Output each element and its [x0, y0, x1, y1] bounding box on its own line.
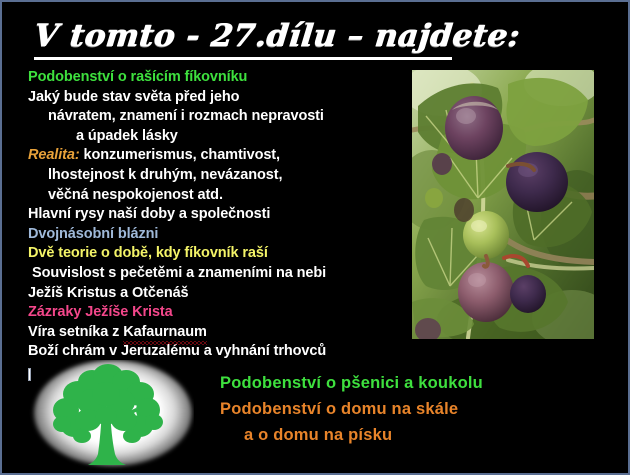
- list-item: Boží chrám v Jeruzalému a vyhnání trhovc…: [28, 342, 410, 362]
- slide-canvas: V tomto - 27.dílu – najdete:: [0, 0, 630, 475]
- list-item: věčná nespokojenost atd.: [28, 186, 410, 206]
- list-item: návratem, znamení i rozmach nepravosti: [28, 107, 410, 127]
- title-underline: [34, 57, 452, 60]
- title-block: V tomto - 27.dílu – najdete:: [32, 18, 462, 64]
- realita-body: konzumerismus, chamtivost,: [80, 147, 280, 163]
- green-tree-clipart[interactable]: [24, 360, 194, 472]
- list-item: Podobenství o rašícím fíkovníku: [28, 68, 410, 88]
- bottom-line: Podobenství o domu na skále: [220, 396, 620, 422]
- bottom-line: Podobenství o pšenici a koukolu: [220, 370, 620, 396]
- page-title: V tomto - 27.dílu – najdete:: [32, 18, 466, 54]
- outline-list: Podobenství o rašícím fíkovníku Jaký bud…: [28, 68, 410, 362]
- list-item: Dvojnásobní blázni: [28, 225, 410, 245]
- spellcheck-misspelled-word[interactable]: Kafaurnaum: [123, 323, 207, 343]
- bottom-text-block: Podobenství o pšenici a koukolu Podobens…: [220, 370, 620, 448]
- list-item: Hlavní rysy naší doby a společnosti: [28, 205, 410, 225]
- realita-lead: Realita:: [28, 147, 80, 163]
- bottom-line: a o domu na písku: [220, 422, 620, 448]
- fig-tree-photo[interactable]: [412, 70, 594, 339]
- list-item-realita: Realita: konzumerismus, chamtivost,: [28, 146, 410, 166]
- list-item: a úpadek lásky: [28, 127, 410, 147]
- kafaurnaum-prefix: Víra setníka z: [28, 324, 123, 340]
- list-item: Jaký bude stav světa před jeho: [28, 88, 410, 108]
- list-item: Dvě teorie o době, kdy fíkovník raší: [28, 244, 410, 264]
- list-item: Zázraky Ježíše Krista: [28, 303, 410, 323]
- image-resize-handle[interactable]: [28, 368, 31, 381]
- list-item-kafaurnaum: Víra setníka z Kafaurnaum: [28, 323, 410, 343]
- list-item: Souvislost s pečetěmi a znameními na neb…: [28, 264, 410, 284]
- list-item: lhostejnost k druhým, nevázanost,: [28, 166, 410, 186]
- list-item: Ježíš Kristus a Otčenáš: [28, 284, 410, 304]
